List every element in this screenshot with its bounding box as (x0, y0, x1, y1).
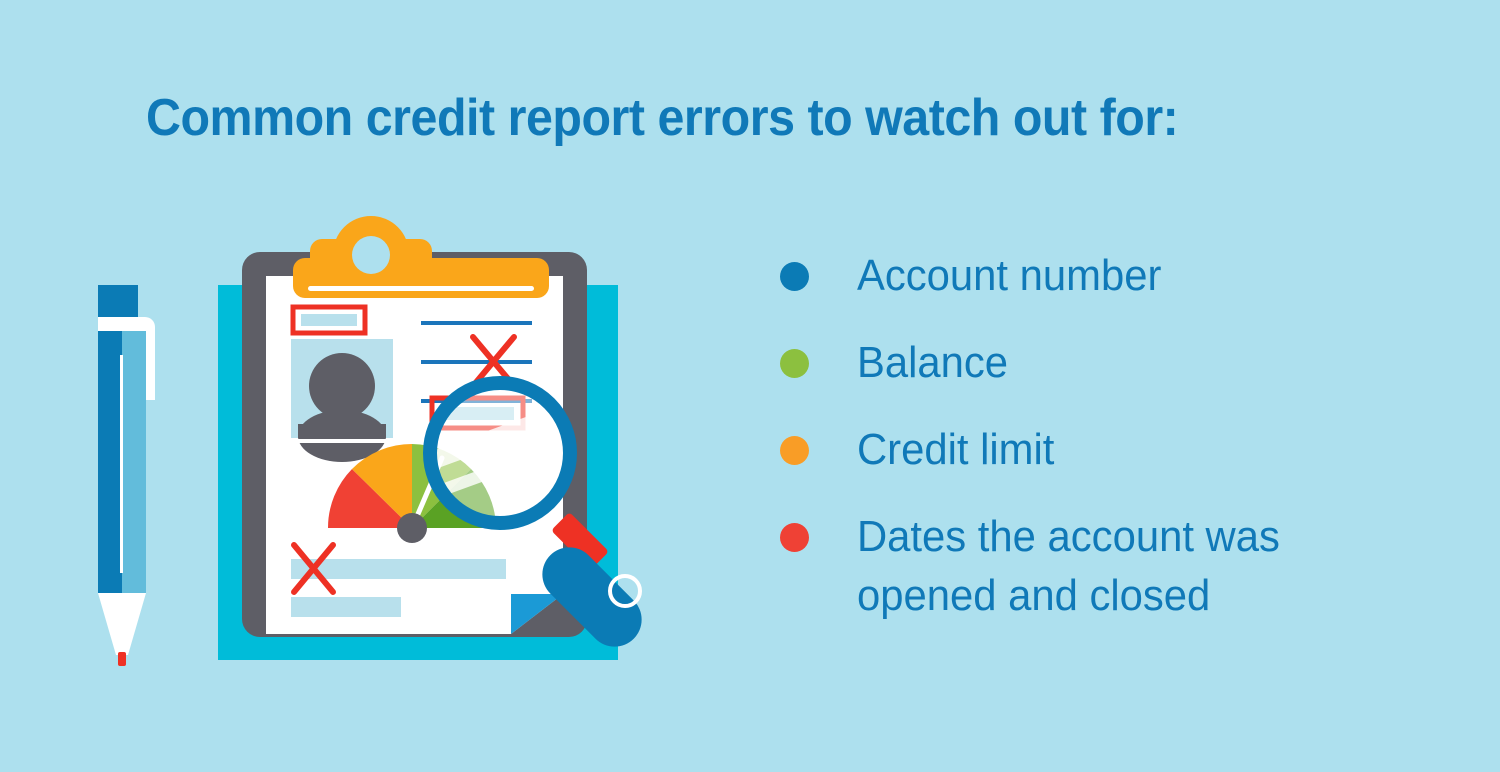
list-item: Dates the account was opened and closed (780, 507, 1420, 625)
clip-highlight-line (308, 286, 534, 291)
clip-bar (293, 258, 549, 298)
list-item-label: Account number (857, 246, 1392, 305)
pen-tip (98, 593, 146, 655)
clip-hole (352, 236, 390, 274)
page-title: Common credit report errors to watch out… (146, 86, 1281, 150)
credit-report-illustration (80, 200, 740, 700)
pen-body-dark (98, 331, 122, 593)
pen-cap (98, 285, 138, 317)
bullet-dot-orange (780, 436, 809, 465)
bullet-dot-green (780, 349, 809, 378)
pen-icon (98, 285, 155, 666)
bullet-dot-blue (780, 262, 809, 291)
avatar-head-icon (309, 353, 375, 419)
list-item: Credit limit (780, 420, 1420, 479)
avatar (291, 339, 393, 462)
list-item: Account number (780, 246, 1420, 305)
pen-seam (120, 355, 123, 573)
bullet-dot-red (780, 523, 809, 552)
text-line-1 (421, 321, 532, 325)
infographic-canvas: Common credit report errors to watch out… (0, 0, 1500, 772)
avatar-clip-mask (291, 439, 393, 443)
field-bar-bottom-2 (291, 597, 401, 617)
list-item-label: Dates the account was opened and closed (857, 507, 1392, 625)
text-line-2 (421, 360, 532, 364)
errors-list: Account number Balance Credit limit Date… (780, 246, 1420, 653)
list-item-label: Balance (857, 333, 1392, 392)
gauge-hub (397, 513, 427, 543)
pen-point (118, 652, 126, 666)
field-bar-top (301, 314, 357, 326)
list-item: Balance (780, 333, 1420, 392)
pen-body-light (122, 331, 146, 593)
list-item-label: Credit limit (857, 420, 1392, 479)
